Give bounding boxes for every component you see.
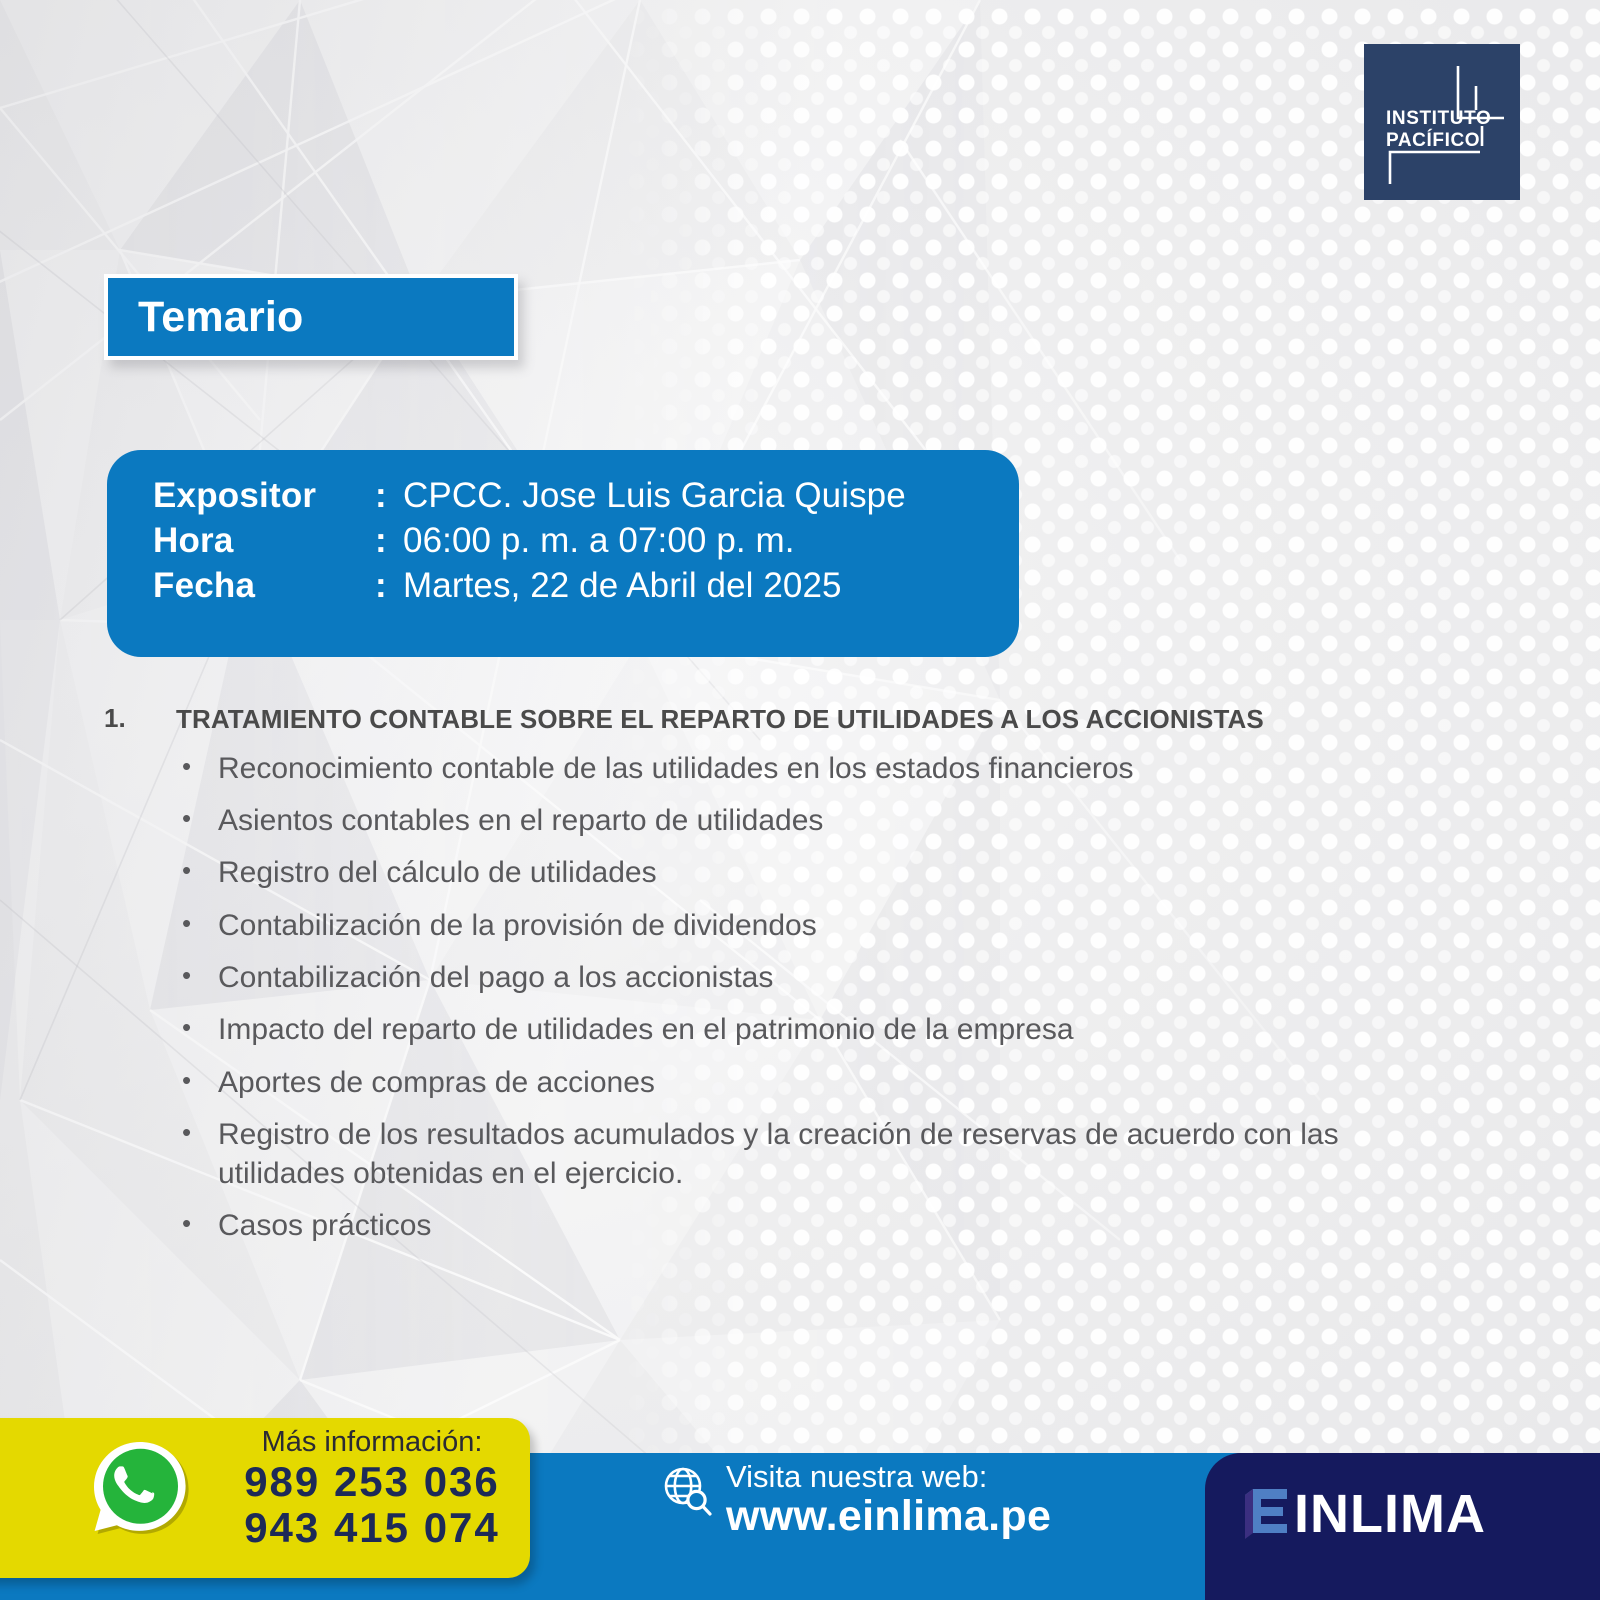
list-item: • Casos prácticos bbox=[182, 1207, 1434, 1245]
info-separator-expositor: : bbox=[375, 476, 403, 516]
info-separator-fecha: : bbox=[375, 566, 403, 606]
bullet-icon: • bbox=[182, 907, 218, 940]
list-item-text: Impacto del reparto de utilidades en el … bbox=[218, 1011, 1074, 1049]
agenda-bullet-list: • Reconocimiento contable de las utilida… bbox=[104, 750, 1434, 1246]
info-row-fecha: Fecha : Martes, 22 de Abril del 2025 bbox=[153, 566, 1019, 606]
info-value-hora: 06:00 p. m. a 07:00 p. m. bbox=[403, 521, 795, 561]
whatsapp-icon[interactable] bbox=[94, 1441, 190, 1537]
agenda-number: 1. bbox=[104, 703, 176, 734]
list-item: • Contabilización de la provisión de div… bbox=[182, 907, 1434, 945]
instituto-pacifico-logo-mark: INSTITUTO PACÍFICO bbox=[1364, 44, 1520, 200]
bullet-icon: • bbox=[182, 1207, 218, 1240]
bullet-icon: • bbox=[182, 750, 218, 783]
list-item: • Contabilización del pago a los accioni… bbox=[182, 959, 1434, 997]
list-item: • Registro del cálculo de utilidades bbox=[182, 854, 1434, 892]
globe-search-icon bbox=[658, 1462, 716, 1520]
list-item-text: Reconocimiento contable de las utilidade… bbox=[218, 750, 1134, 788]
list-item: • Registro de los resultados acumulados … bbox=[182, 1116, 1434, 1193]
list-item-text: Registro del cálculo de utilidades bbox=[218, 854, 657, 892]
bullet-icon: • bbox=[182, 1064, 218, 1097]
agenda-heading: TRATAMIENTO CONTABLE SOBRE EL REPARTO DE… bbox=[176, 703, 1264, 736]
instituto-pacifico-logo: INSTITUTO PACÍFICO bbox=[1364, 44, 1520, 200]
einlima-e-icon bbox=[1245, 1489, 1287, 1539]
list-item-text: Registro de los resultados acumulados y … bbox=[218, 1116, 1418, 1193]
einlima-wordmark: INLIMA bbox=[1245, 1487, 1486, 1541]
info-value-expositor: CPCC. Jose Luis Garcia Quispe bbox=[403, 476, 906, 516]
list-item: • Aportes de compras de acciones bbox=[182, 1064, 1434, 1102]
info-row-hora: Hora : 06:00 p. m. a 07:00 p. m. bbox=[153, 521, 1019, 561]
temario-header-chip: Temario bbox=[104, 274, 518, 360]
agenda-section: 1. TRATAMIENTO CONTABLE SOBRE EL REPARTO… bbox=[104, 703, 1434, 1259]
web-caption: Visita nuestra web: bbox=[726, 1461, 1051, 1492]
page-title: Temario bbox=[138, 293, 304, 342]
info-label-hora: Hora bbox=[153, 521, 375, 561]
list-item-text: Contabilización de la provisión de divid… bbox=[218, 907, 817, 945]
list-item: • Reconocimiento contable de las utilida… bbox=[182, 750, 1434, 788]
contact-caption: Más información: bbox=[222, 1427, 522, 1457]
info-label-fecha: Fecha bbox=[153, 566, 375, 606]
website-block: Visita nuestra web: www.einlima.pe bbox=[726, 1461, 1051, 1538]
bullet-icon: • bbox=[182, 802, 218, 835]
bullet-icon: • bbox=[182, 854, 218, 887]
list-item-text: Asientos contables en el reparto de util… bbox=[218, 802, 823, 840]
phone-number-1[interactable]: 989 253 036 bbox=[222, 1459, 522, 1504]
bullet-icon: • bbox=[182, 959, 218, 992]
list-item-text: Aportes de compras de acciones bbox=[218, 1064, 655, 1102]
list-item-text: Casos prácticos bbox=[218, 1207, 431, 1245]
phone-number-2[interactable]: 943 415 074 bbox=[222, 1505, 522, 1550]
list-item: • Impacto del reparto de utilidades en e… bbox=[182, 1011, 1434, 1049]
logo-text-instituto: INSTITUTO bbox=[1386, 108, 1491, 129]
einlima-text: INLIMA bbox=[1294, 1487, 1486, 1541]
contact-info-block: Más información: 989 253 036 943 415 074 bbox=[222, 1427, 522, 1550]
info-label-expositor: Expositor bbox=[153, 476, 375, 516]
event-info-card: Expositor : CPCC. Jose Luis Garcia Quisp… bbox=[107, 450, 1019, 657]
logo-text-pacifico: PACÍFICO bbox=[1386, 129, 1480, 151]
bullet-icon: • bbox=[182, 1011, 218, 1044]
agenda-heading-row: 1. TRATAMIENTO CONTABLE SOBRE EL REPARTO… bbox=[104, 703, 1434, 736]
bullet-icon: • bbox=[182, 1116, 218, 1149]
info-separator-hora: : bbox=[375, 521, 403, 561]
info-row-expositor: Expositor : CPCC. Jose Luis Garcia Quisp… bbox=[153, 476, 1019, 516]
list-item: • Asientos contables en el reparto de ut… bbox=[182, 802, 1434, 840]
info-value-fecha: Martes, 22 de Abril del 2025 bbox=[403, 566, 842, 606]
website-url[interactable]: www.einlima.pe bbox=[726, 1495, 1051, 1538]
list-item-text: Contabilización del pago a los accionist… bbox=[218, 959, 773, 997]
